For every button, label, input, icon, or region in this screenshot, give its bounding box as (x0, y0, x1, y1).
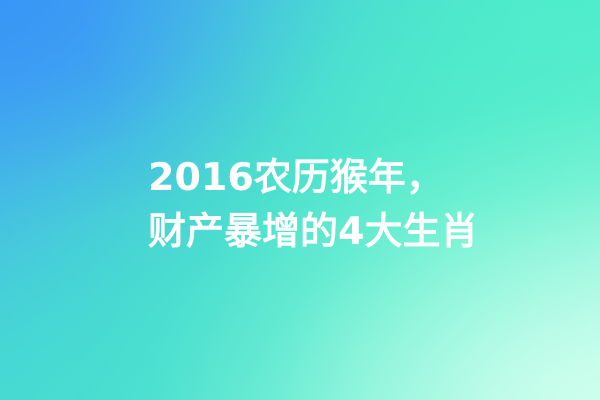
banner-card: 2016农历猴年， 财产暴增的4大生肖 (0, 0, 600, 400)
title-line-1: 2016农历猴年， (148, 150, 568, 204)
background-wash-bottom-right (0, 0, 600, 400)
background-wash-bottom-left (0, 0, 600, 400)
title-line-2: 财产暴增的4大生肖 (148, 204, 568, 258)
page-title: 2016农历猴年， 财产暴增的4大生肖 (148, 150, 568, 258)
background-wash-top-right (0, 0, 600, 400)
background-wash-top-left (0, 0, 600, 400)
